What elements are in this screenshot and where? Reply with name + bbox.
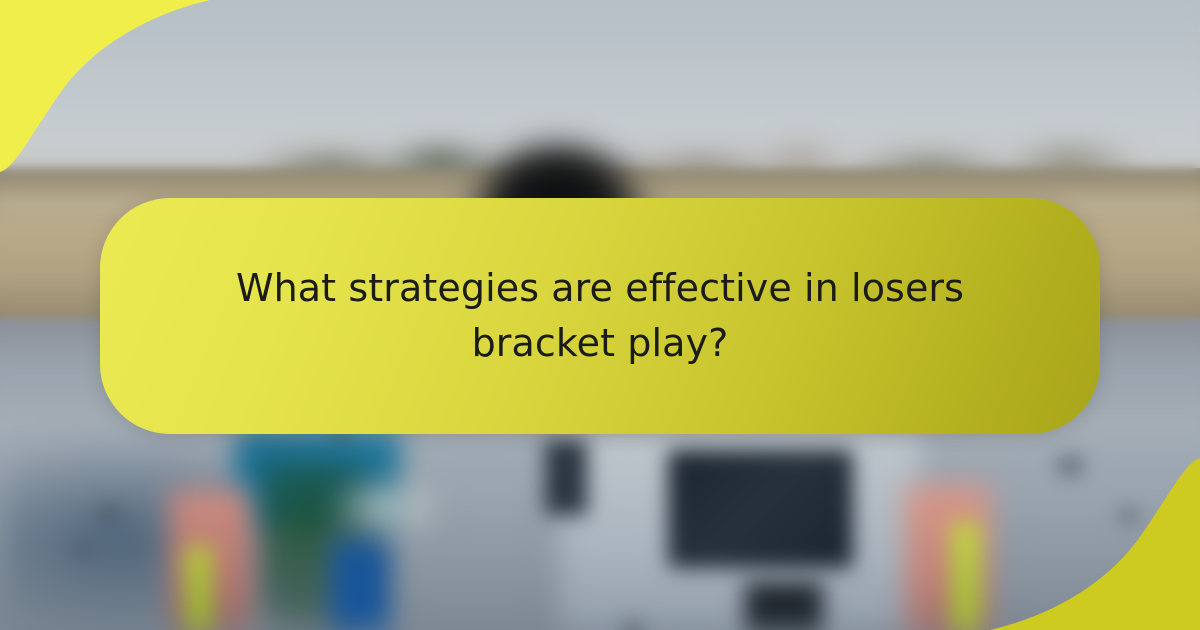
photo-yellow-green-pole-right — [952, 522, 980, 630]
photo-speck — [72, 545, 90, 557]
photo-boat-window-lower — [745, 582, 823, 630]
photo-yellow-green-pole-left — [186, 546, 212, 630]
photo-speck — [1055, 455, 1085, 477]
photo-speck — [96, 505, 122, 521]
question-card: What strategies are effective in losers … — [100, 198, 1100, 434]
photo-pale-object — [330, 472, 440, 542]
photo-boat-window — [668, 450, 853, 568]
photo-speck — [620, 620, 646, 630]
photo-dark-panel — [545, 440, 587, 515]
photo-blue-strip — [330, 540, 390, 630]
question-text: What strategies are effective in losers … — [200, 261, 1000, 372]
photo-speck — [1118, 508, 1140, 523]
screenshot-canvas: What strategies are effective in losers … — [0, 0, 1200, 630]
